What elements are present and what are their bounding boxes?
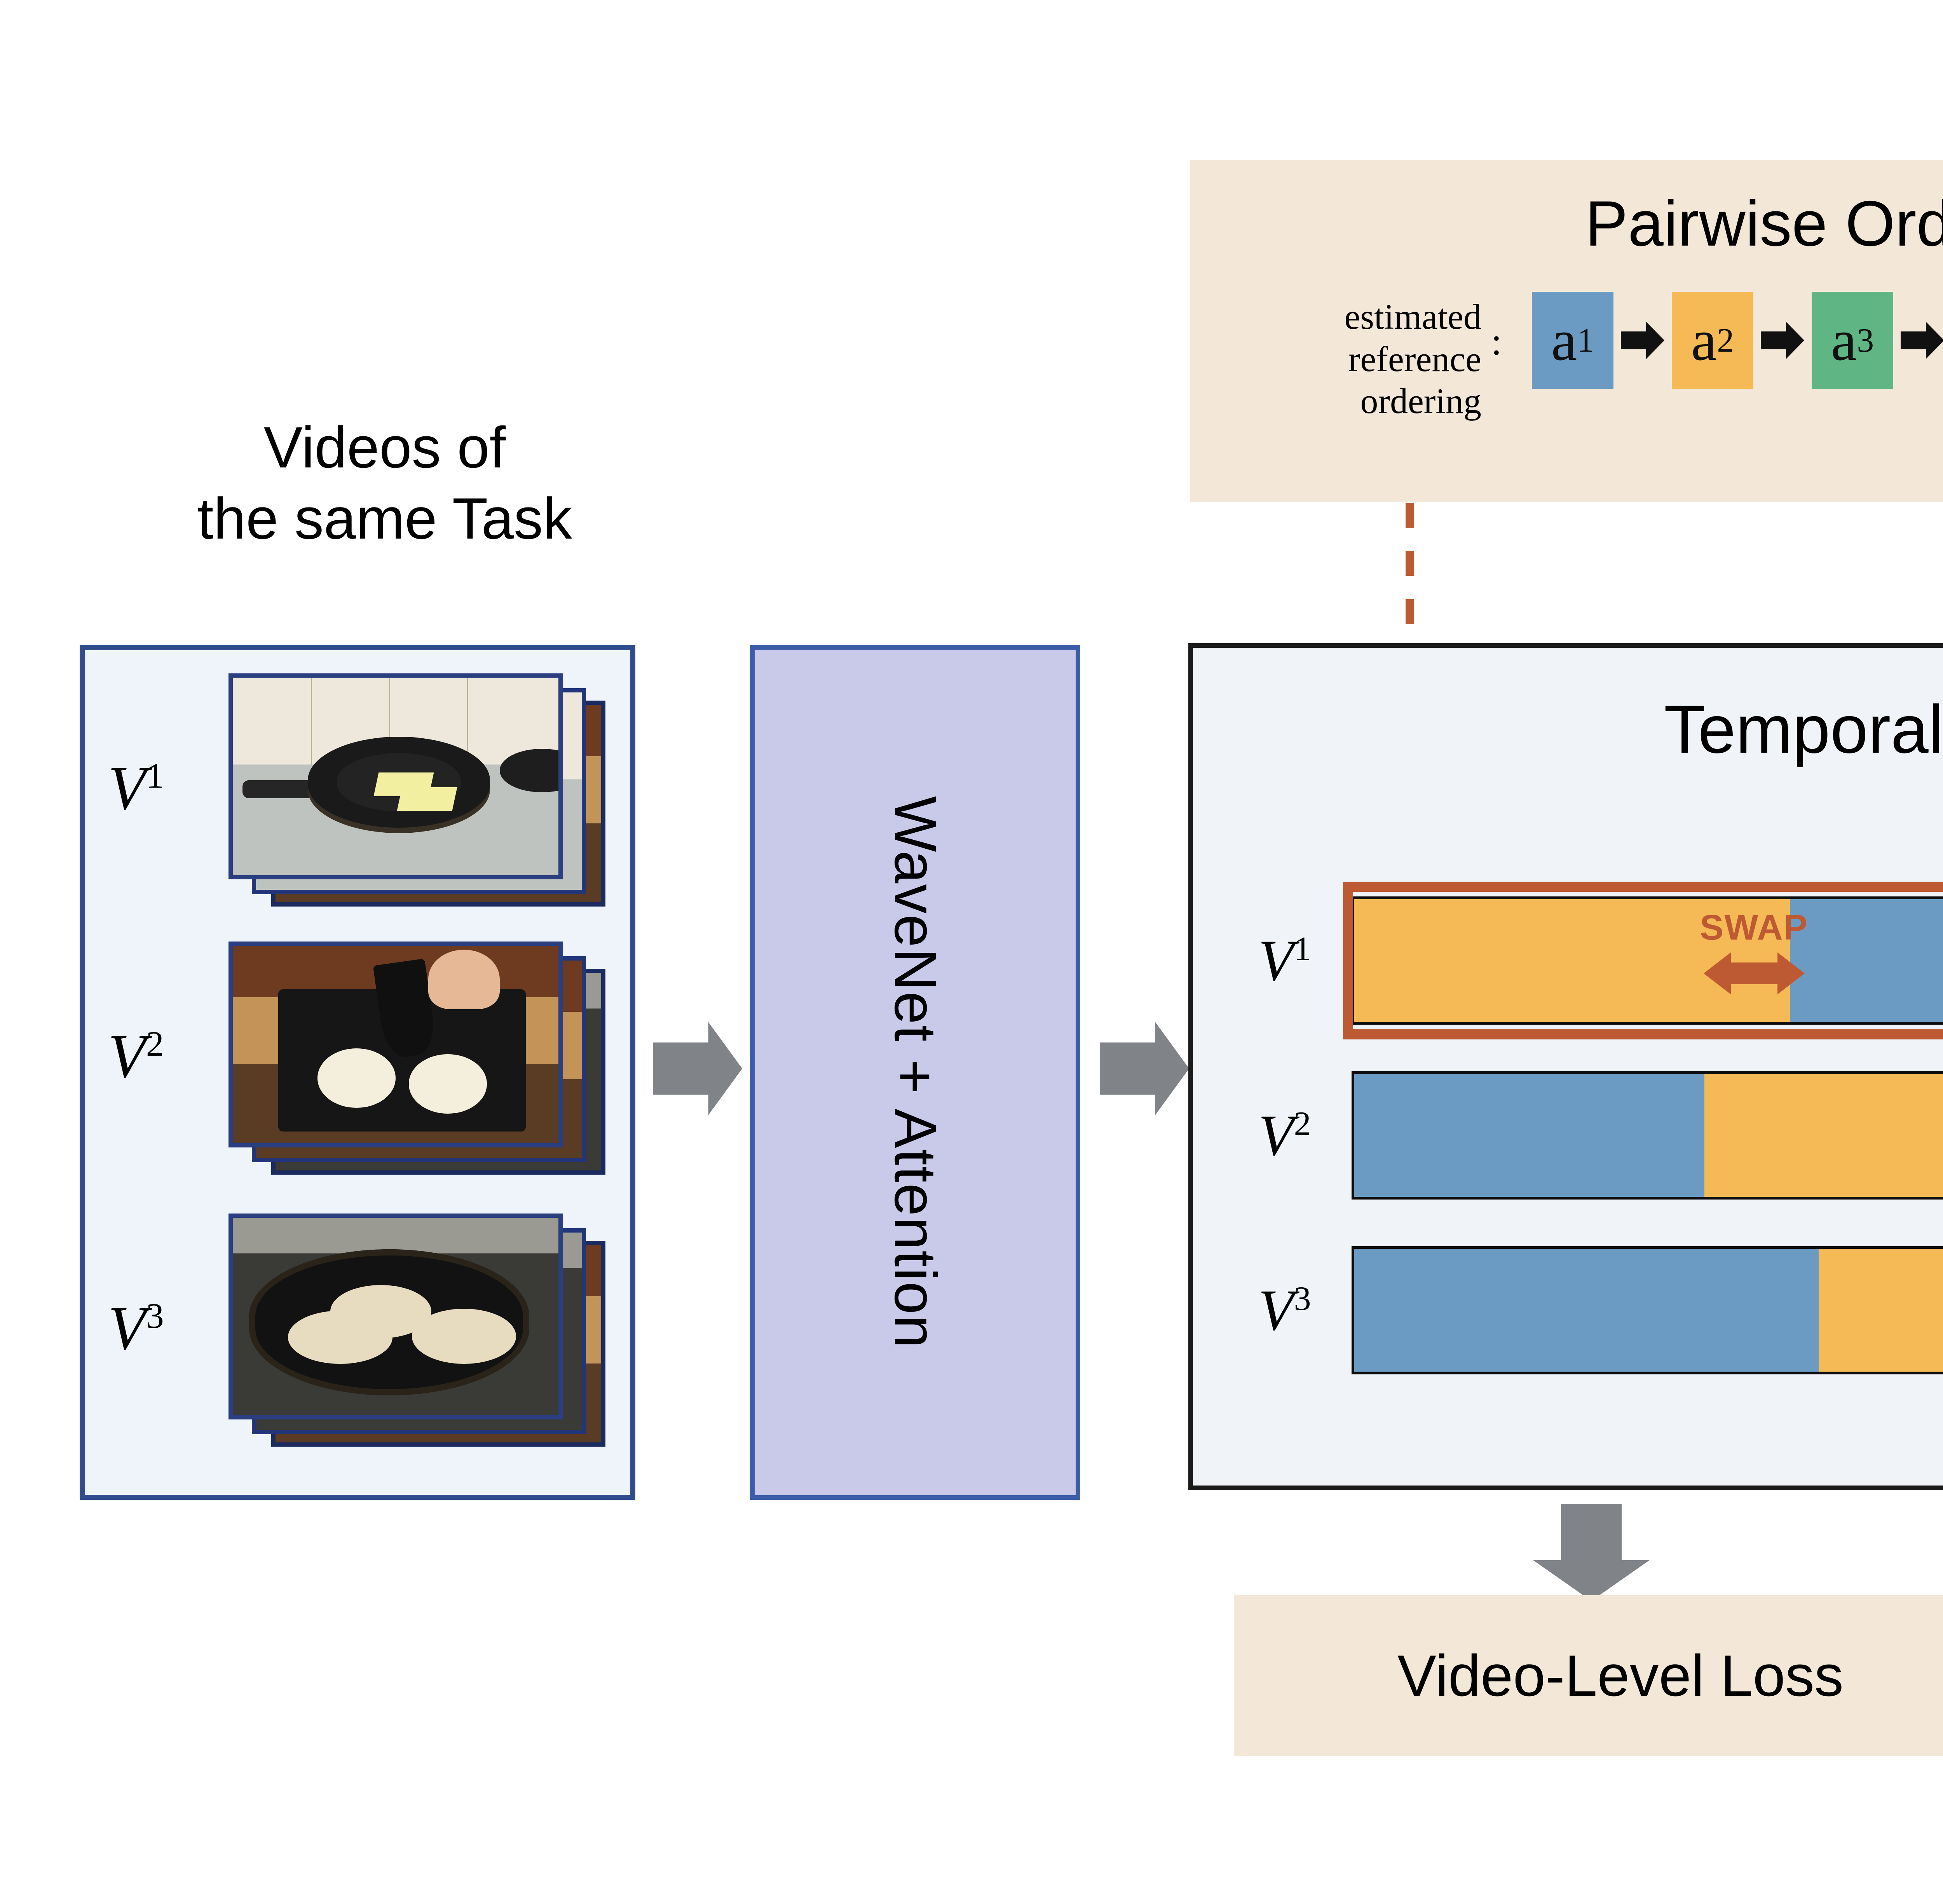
swap-double-arrow-icon-1 xyxy=(1704,950,1805,997)
video-thumbnail-front-1 xyxy=(228,673,563,879)
video-label-1: V1 xyxy=(108,752,164,824)
segmentation-row-3: V3 SWAP xyxy=(1352,1246,1943,1374)
videos-heading: Videos of the same Task xyxy=(128,412,641,554)
video-thumbnail-front-3 xyxy=(228,1214,563,1419)
segment-v2-a2[interactable] xyxy=(1704,1074,1943,1197)
estimated-reference-ordering-label: estimated reference ordering xyxy=(1264,296,1481,422)
segment-v3-a1[interactable] xyxy=(1354,1249,1819,1372)
action-box-a1[interactable]: a1 xyxy=(1532,292,1613,389)
segmentation-row-label-1: V1 xyxy=(1258,927,1311,994)
video-thumbnail-stack-3 xyxy=(228,1214,586,1431)
wavenet-attention-label: WaveNet + Attention xyxy=(881,796,949,1349)
pairwise-panel-title: Pairwise Ordering Consistency xyxy=(1190,187,1943,260)
wavenet-attention-box[interactable]: WaveNet + Attention xyxy=(750,645,1080,1500)
temporal-segmentation-panel: Temporal Segmentation V1 SWAP V2 xyxy=(1188,643,1943,1490)
segment-v1-a1[interactable] xyxy=(1790,899,1943,1022)
video-level-loss-box[interactable]: Video-Level Loss xyxy=(1234,1595,1943,1756)
videos-heading-line1: Videos of xyxy=(128,412,641,483)
pairwise-ordering-consistency-panel: Pairwise Ordering Consistency estimated … xyxy=(1190,160,1943,502)
video-thumbnail-stack-1 xyxy=(228,673,586,891)
video-label-3: V3 xyxy=(108,1292,164,1364)
video-thumbnail-front-2 xyxy=(228,942,563,1147)
est-line-2: reference xyxy=(1264,338,1481,380)
arrow-model-to-segmentation xyxy=(1100,1022,1189,1115)
segment-v3-a2[interactable] xyxy=(1819,1249,1943,1372)
segmentation-row-1: V1 SWAP xyxy=(1352,896,1943,1025)
video-item-1[interactable]: V1 xyxy=(85,666,630,910)
action-box-a2[interactable]: a2 xyxy=(1672,292,1753,389)
segment-v2-a1[interactable] xyxy=(1354,1074,1704,1197)
videos-heading-line2: the same Task xyxy=(128,483,641,554)
video-level-loss-label: Video-Level Loss xyxy=(1397,1642,1844,1709)
sequence-arrow-3 xyxy=(1893,292,1943,389)
reference-ordering-sequence: a1 a2 a3 a4 xyxy=(1532,292,1943,389)
segmentation-bar-2[interactable] xyxy=(1352,1071,1943,1200)
segmentation-row-2: V2 xyxy=(1352,1071,1943,1200)
video-thumbnail-stack-2 xyxy=(228,942,586,1159)
video-item-2[interactable]: V2 xyxy=(85,934,630,1179)
arrow-to-video-loss xyxy=(1533,1504,1650,1601)
est-line-3: ordering xyxy=(1264,380,1481,422)
segmentation-row-label-3: V3 xyxy=(1258,1277,1311,1344)
swap-label-1: SWAP xyxy=(1700,910,1808,945)
segmentation-bar-1[interactable] xyxy=(1352,896,1943,1025)
temporal-segmentation-title: Temporal Segmentation xyxy=(1193,690,1943,769)
videos-panel: V1 V2 xyxy=(80,645,635,1500)
swap-badge-1: SWAP xyxy=(1696,910,1812,997)
segmentation-bar-3[interactable] xyxy=(1352,1246,1943,1374)
action-box-a3[interactable]: a3 xyxy=(1812,292,1893,389)
sequence-arrow-2 xyxy=(1753,292,1812,389)
arrow-input-to-model xyxy=(653,1022,742,1115)
video-label-2: V2 xyxy=(108,1020,164,1092)
video-item-3[interactable]: V3 xyxy=(85,1206,630,1451)
sequence-arrow-1 xyxy=(1613,292,1672,389)
ordering-colon: : xyxy=(1491,319,1502,364)
segmentation-row-label-2: V2 xyxy=(1258,1102,1311,1169)
est-line-1: estimated xyxy=(1264,296,1481,338)
